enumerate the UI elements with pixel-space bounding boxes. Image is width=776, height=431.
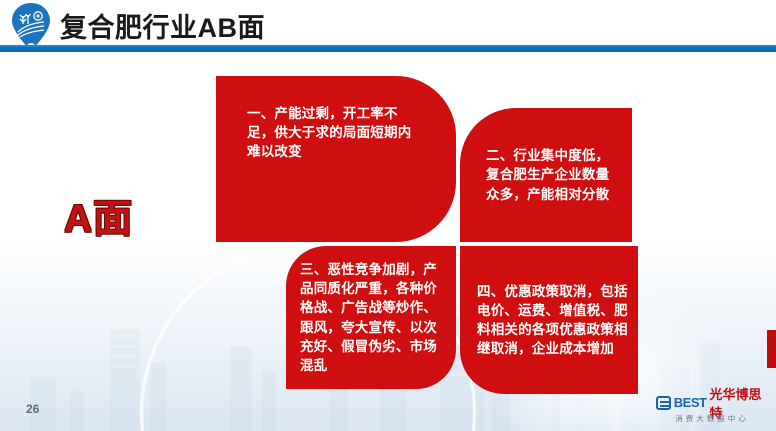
content-box-one: 一、产能过剩，开工率不足，供大于求的局面短期内难以改变 [216, 76, 456, 242]
content-box-two-text: 二、行业集中度低，复合肥生产企业数量众多，产能相对分散 [472, 146, 620, 203]
content-box-four: 四、优惠政策取消，包括电价、运费、增值税、肥料相关的各项优惠政策相继取消，企业成… [460, 246, 638, 394]
content-box-four-text: 四、优惠政策取消，包括电价、运费、增值税、肥料相关的各项优惠政策相继取消，企业成… [469, 282, 629, 359]
content-box-one-text: 一、产能过剩，开工率不足，供大于求的局面短期内难以改变 [247, 76, 425, 161]
edge-accent-tab [767, 330, 776, 368]
page-number: 26 [26, 402, 39, 416]
header-divider-highlight [0, 45, 776, 47]
section-label-a-side: A面 [64, 188, 133, 244]
brand-latin-text: BEST [674, 395, 707, 410]
content-box-three-text: 三、恶性竞争加剧，产品同质化严重，各种价格战、广告战等炒作、跟风，夸大宣传、以次… [294, 260, 448, 375]
best-logo-icon [656, 396, 671, 410]
content-box-two: 二、行业集中度低，复合肥生产企业数量众多，产能相对分散 [460, 108, 632, 242]
slide: 复合肥行业AB面 A面 一、产能过剩，开工率不足，供大于求的局面短期内难以改变 … [0, 0, 776, 431]
content-box-three: 三、恶性竞争加剧，产品同质化严重，各种价格战、广告战等炒作、跟风，夸大宣传、以次… [286, 246, 456, 389]
brand-footer: BEST 光华博思特 消费大数据中心 [656, 394, 768, 426]
brand-row: BEST 光华博思特 [656, 394, 768, 411]
page-title: 复合肥行业AB面 [60, 6, 265, 45]
